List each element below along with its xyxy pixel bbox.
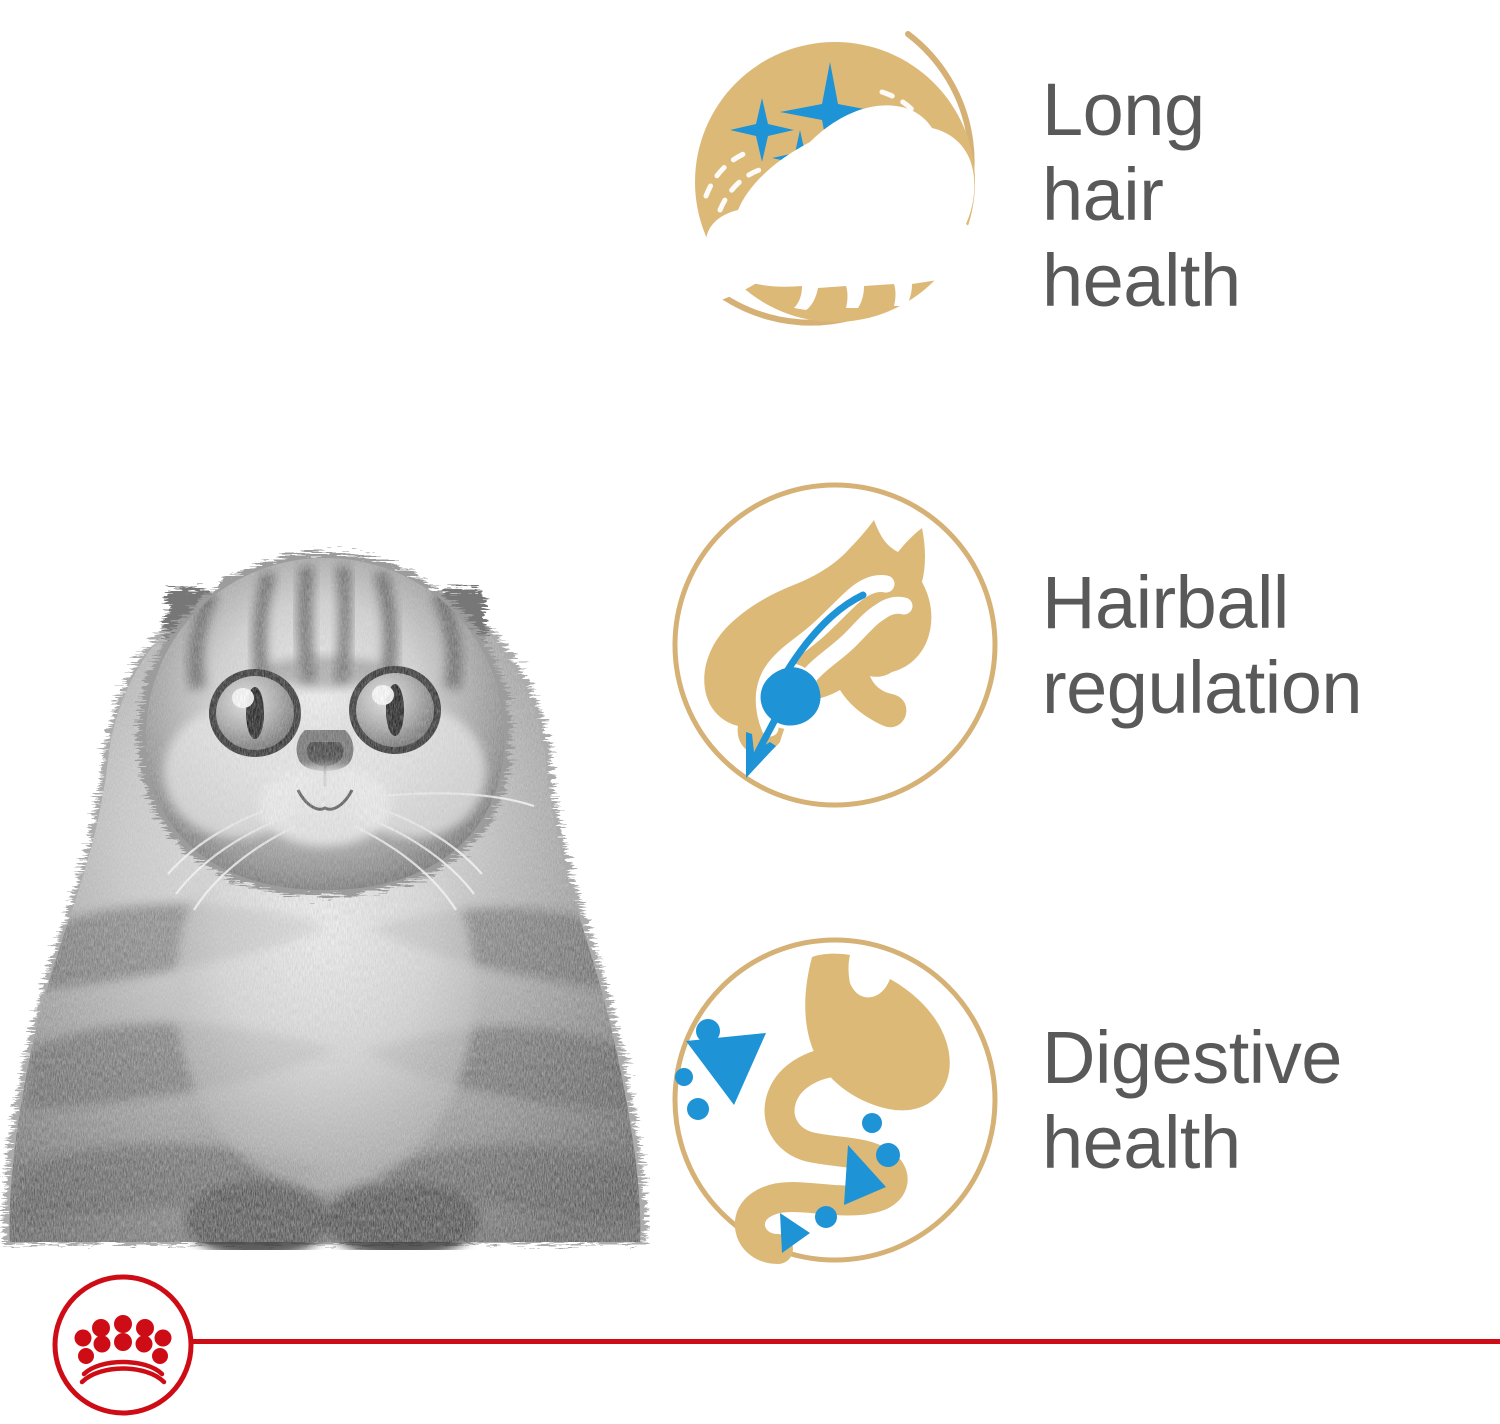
benefit-label-digestive-health: Digestive health <box>1020 1015 1500 1185</box>
benefits-list: Long hair health <box>650 0 1500 1270</box>
royal-canin-crown-logo <box>50 1272 196 1418</box>
benefit-label-hairball-regulation: Hairball regulation <box>1020 560 1500 730</box>
stomach-shape <box>805 954 950 1111</box>
long-hair-cat-sparkle-icon <box>650 10 1020 380</box>
benefit-label-long-hair-health: Long hair health <box>1020 67 1500 322</box>
hairball-regulation-cat-icon <box>650 460 1020 830</box>
brand-bar <box>0 1264 1500 1424</box>
brand-red-rule <box>178 1339 1500 1344</box>
persian-cat-photo <box>0 290 650 1250</box>
benefit-item-long-hair-health: Long hair health <box>650 10 1500 380</box>
benefit-item-hairball-regulation: Hairball regulation <box>650 460 1500 830</box>
benefit-item-digestive-health: Digestive health <box>650 915 1500 1285</box>
digestive-stomach-intestine-icon <box>650 915 1020 1285</box>
cat-photo-panel <box>0 290 650 1250</box>
